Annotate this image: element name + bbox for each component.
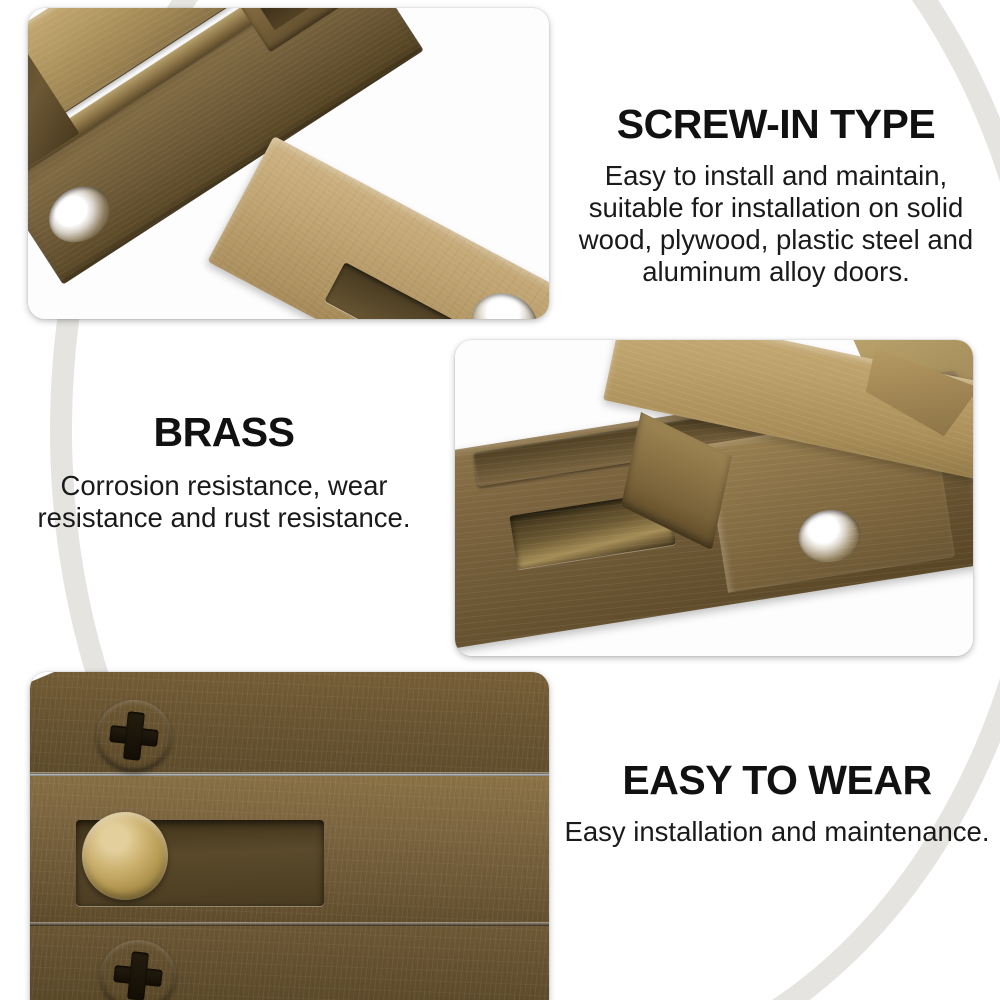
feature-block-easy-to-wear: EASY TO WEAR Easy installation and maint… — [562, 760, 992, 848]
infographic-canvas: SCREW-IN TYPE Easy to install and mainta… — [0, 0, 1000, 1000]
feature-body-easy-to-wear: Easy installation and maintenance. — [562, 816, 992, 848]
phillips-screw-top — [96, 700, 172, 772]
feature-block-brass: BRASS Corrosion resistance, wear resista… — [18, 412, 430, 534]
phillips-cross-icon — [123, 711, 145, 761]
countersunk-screw-hole — [795, 506, 864, 567]
strike-plate-screw-hole — [460, 282, 548, 319]
feature-block-screw-in-type: SCREW-IN TYPE Easy to install and mainta… — [560, 104, 992, 289]
strike-plate-slot — [324, 262, 458, 319]
latch-edge-highlight-lower — [30, 922, 549, 926]
feature-heading-screw-in-type: SCREW-IN TYPE — [560, 104, 992, 146]
phillips-cross-icon — [127, 951, 149, 1000]
photo-stage-easy-to-wear — [30, 672, 549, 1000]
photo-card-brass — [455, 340, 973, 656]
feature-body-brass: Corrosion resistance, wear resistance an… — [18, 470, 430, 534]
feature-heading-brass: BRASS — [18, 412, 430, 454]
photo-card-screw-in-type — [28, 8, 549, 319]
latch-edge-highlight-upper — [30, 772, 549, 776]
feature-heading-easy-to-wear: EASY TO WEAR — [562, 760, 992, 802]
photo-stage-screw-in-type — [28, 8, 549, 319]
photo-stage-brass — [455, 340, 973, 656]
photo-card-easy-to-wear — [30, 672, 549, 1000]
brass-slide-knob — [82, 812, 168, 900]
feature-body-screw-in-type: Easy to install and maintain, suitable f… — [560, 160, 992, 289]
